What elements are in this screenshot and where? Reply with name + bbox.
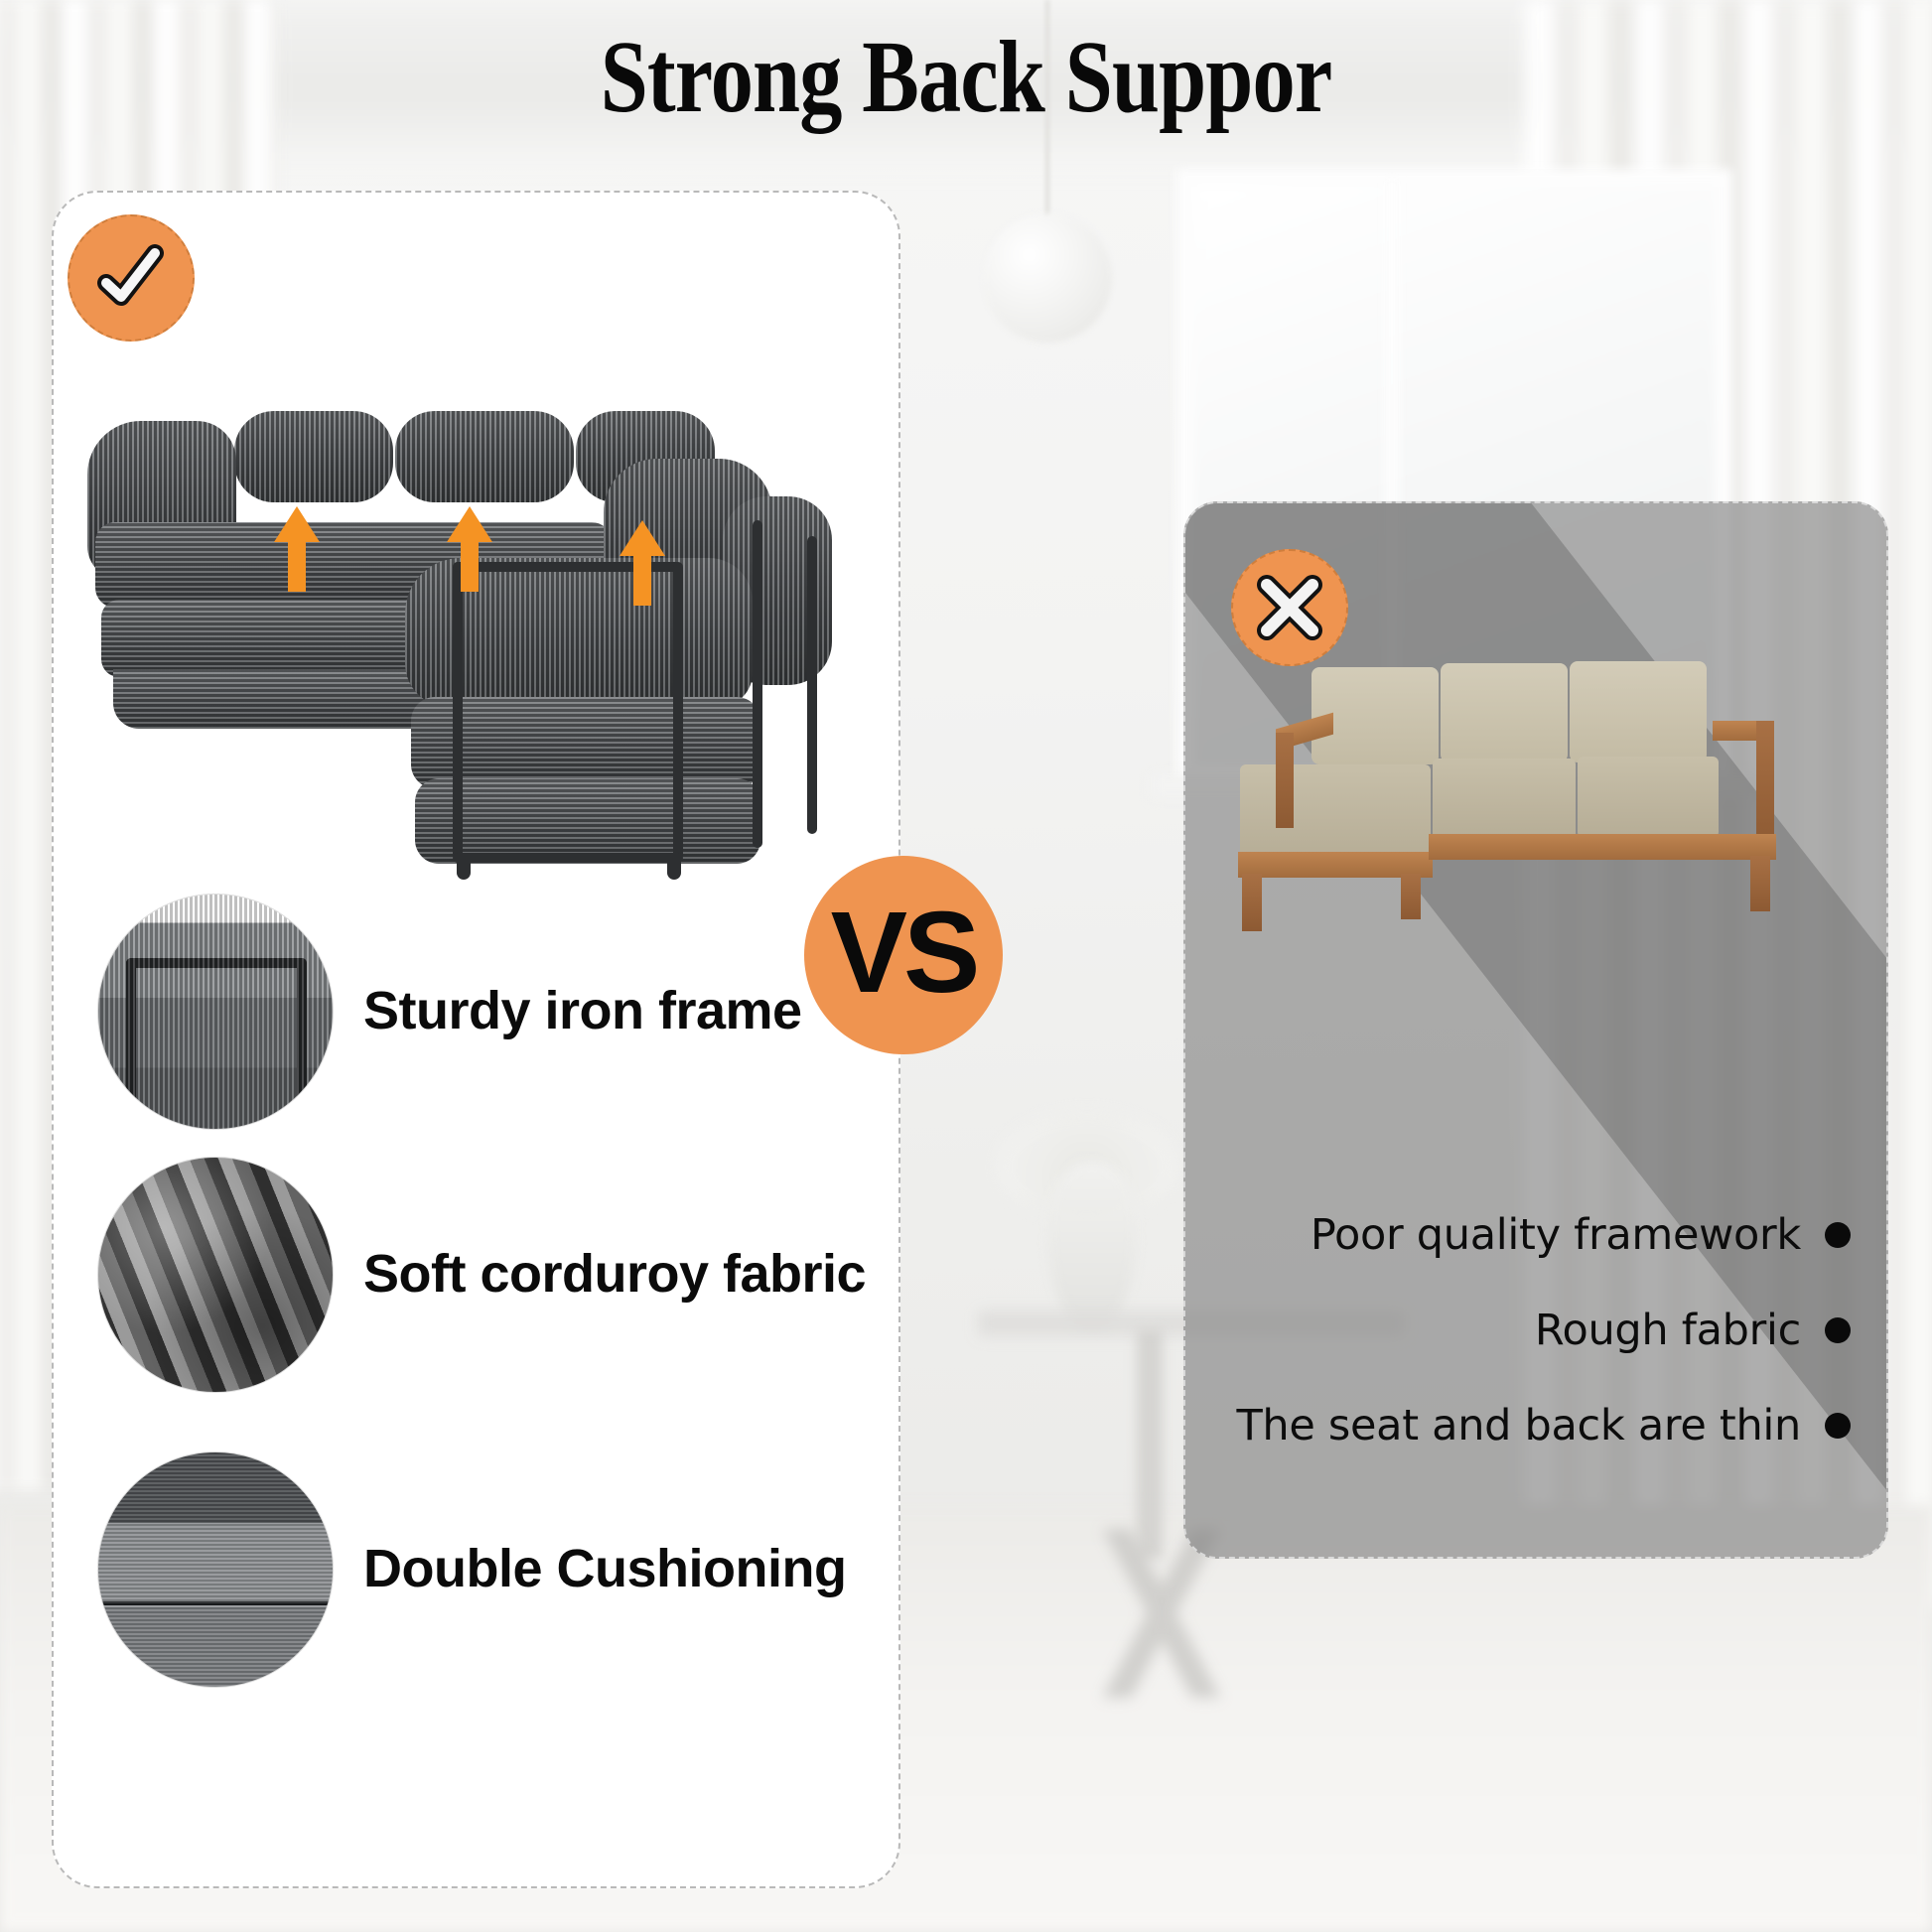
bad-product-card: Poor quality framework Rough fabric The … bbox=[1183, 501, 1888, 1559]
feature-label: Sturdy iron frame bbox=[363, 982, 802, 1040]
bad-sofa-image bbox=[1220, 657, 1865, 1074]
pendant-lamp bbox=[983, 213, 1112, 343]
double-cushion-closeup-thumb bbox=[97, 1451, 334, 1688]
vs-label: VS bbox=[831, 895, 977, 1010]
vase bbox=[1047, 1162, 1137, 1330]
page-title: Strong Back Suppor bbox=[164, 22, 1767, 133]
good-sofa-image bbox=[68, 312, 901, 947]
bullet-item: The seat and back are thin bbox=[1215, 1401, 1851, 1450]
feature-label: Double Cushioning bbox=[363, 1540, 846, 1598]
bullet-dot-icon bbox=[1825, 1317, 1851, 1343]
bullet-dot-icon bbox=[1825, 1413, 1851, 1439]
bad-bullet-list: Poor quality framework Rough fabric The … bbox=[1215, 1210, 1851, 1496]
bullet-item: Poor quality framework bbox=[1215, 1210, 1851, 1260]
bullet-item: Rough fabric bbox=[1215, 1306, 1851, 1355]
cross-icon bbox=[1231, 549, 1348, 666]
bullet-dot-icon bbox=[1825, 1222, 1851, 1248]
corduroy-fabric-closeup-thumb bbox=[97, 1157, 334, 1393]
bullet-label: Poor quality framework bbox=[1311, 1210, 1801, 1260]
good-product-card: Sturdy iron frame Soft corduroy fabric D… bbox=[52, 191, 900, 1888]
vs-badge: VS bbox=[804, 856, 1003, 1054]
feature-row: Double Cushioning bbox=[97, 1446, 872, 1694]
bullet-label: The seat and back are thin bbox=[1236, 1401, 1801, 1450]
back-support-arrow-1 bbox=[274, 506, 320, 592]
bullet-label: Rough fabric bbox=[1535, 1306, 1801, 1355]
check-icon bbox=[68, 214, 195, 342]
feature-row: Sturdy iron frame bbox=[97, 888, 872, 1136]
feature-label: Soft corduroy fabric bbox=[363, 1245, 866, 1304]
side-table-stem bbox=[1137, 1330, 1163, 1559]
back-support-arrow-2 bbox=[447, 506, 492, 592]
back-support-arrow-3 bbox=[620, 520, 665, 606]
feature-row: Soft corduroy fabric bbox=[97, 1151, 872, 1399]
iron-frame-closeup-thumb bbox=[97, 894, 334, 1130]
